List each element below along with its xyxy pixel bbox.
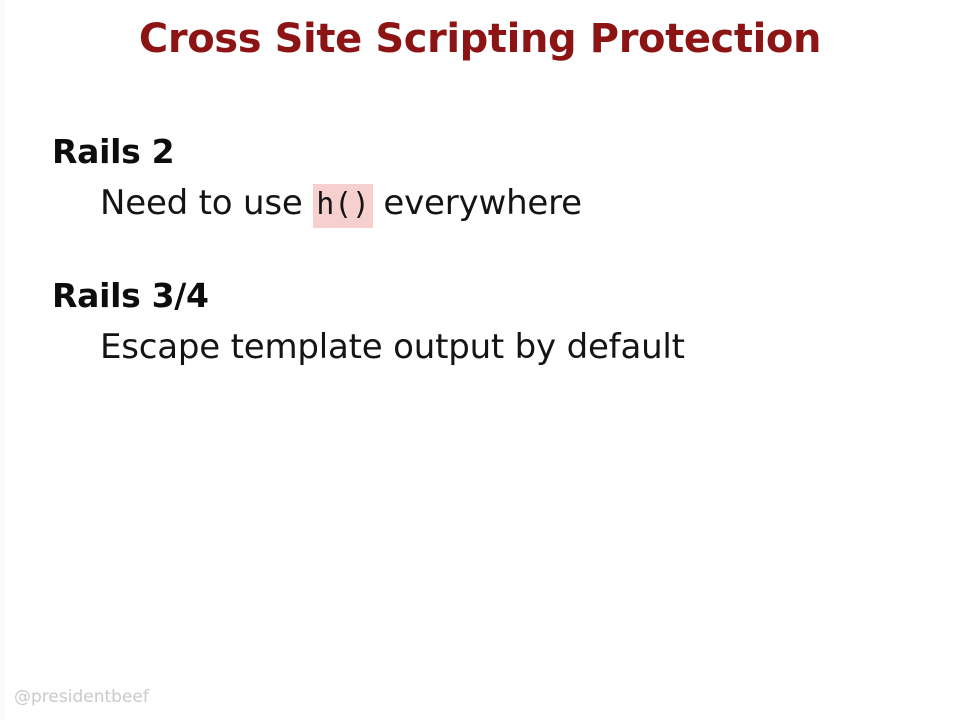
left-edge-strip <box>0 0 5 720</box>
watermark-handle: @presidentbeef <box>14 689 149 706</box>
body-text-prefix: Need to use <box>100 183 313 223</box>
content-block-rails-2: Rails 2 Need to use h() everywhere <box>52 132 922 224</box>
block-heading-rails-3-4: Rails 3/4 <box>52 276 922 316</box>
body-text-suffix: everywhere <box>373 183 582 223</box>
block-body-rails-2: Need to use h() everywhere <box>100 182 922 225</box>
slide-content: Rails 2 Need to use h() everywhere Rails… <box>52 132 922 368</box>
page-title: Cross Site Scripting Protection <box>0 16 960 62</box>
block-heading-rails-2: Rails 2 <box>52 132 922 172</box>
slide: Cross Site Scripting Protection Rails 2 … <box>0 0 960 720</box>
body-text-escape-default: Escape template output by default <box>100 327 685 367</box>
block-body-rails-3-4: Escape template output by default <box>100 326 922 369</box>
inline-code-h-method: h() <box>313 184 373 228</box>
content-block-rails-3-4: Rails 3/4 Escape template output by defa… <box>52 276 922 368</box>
